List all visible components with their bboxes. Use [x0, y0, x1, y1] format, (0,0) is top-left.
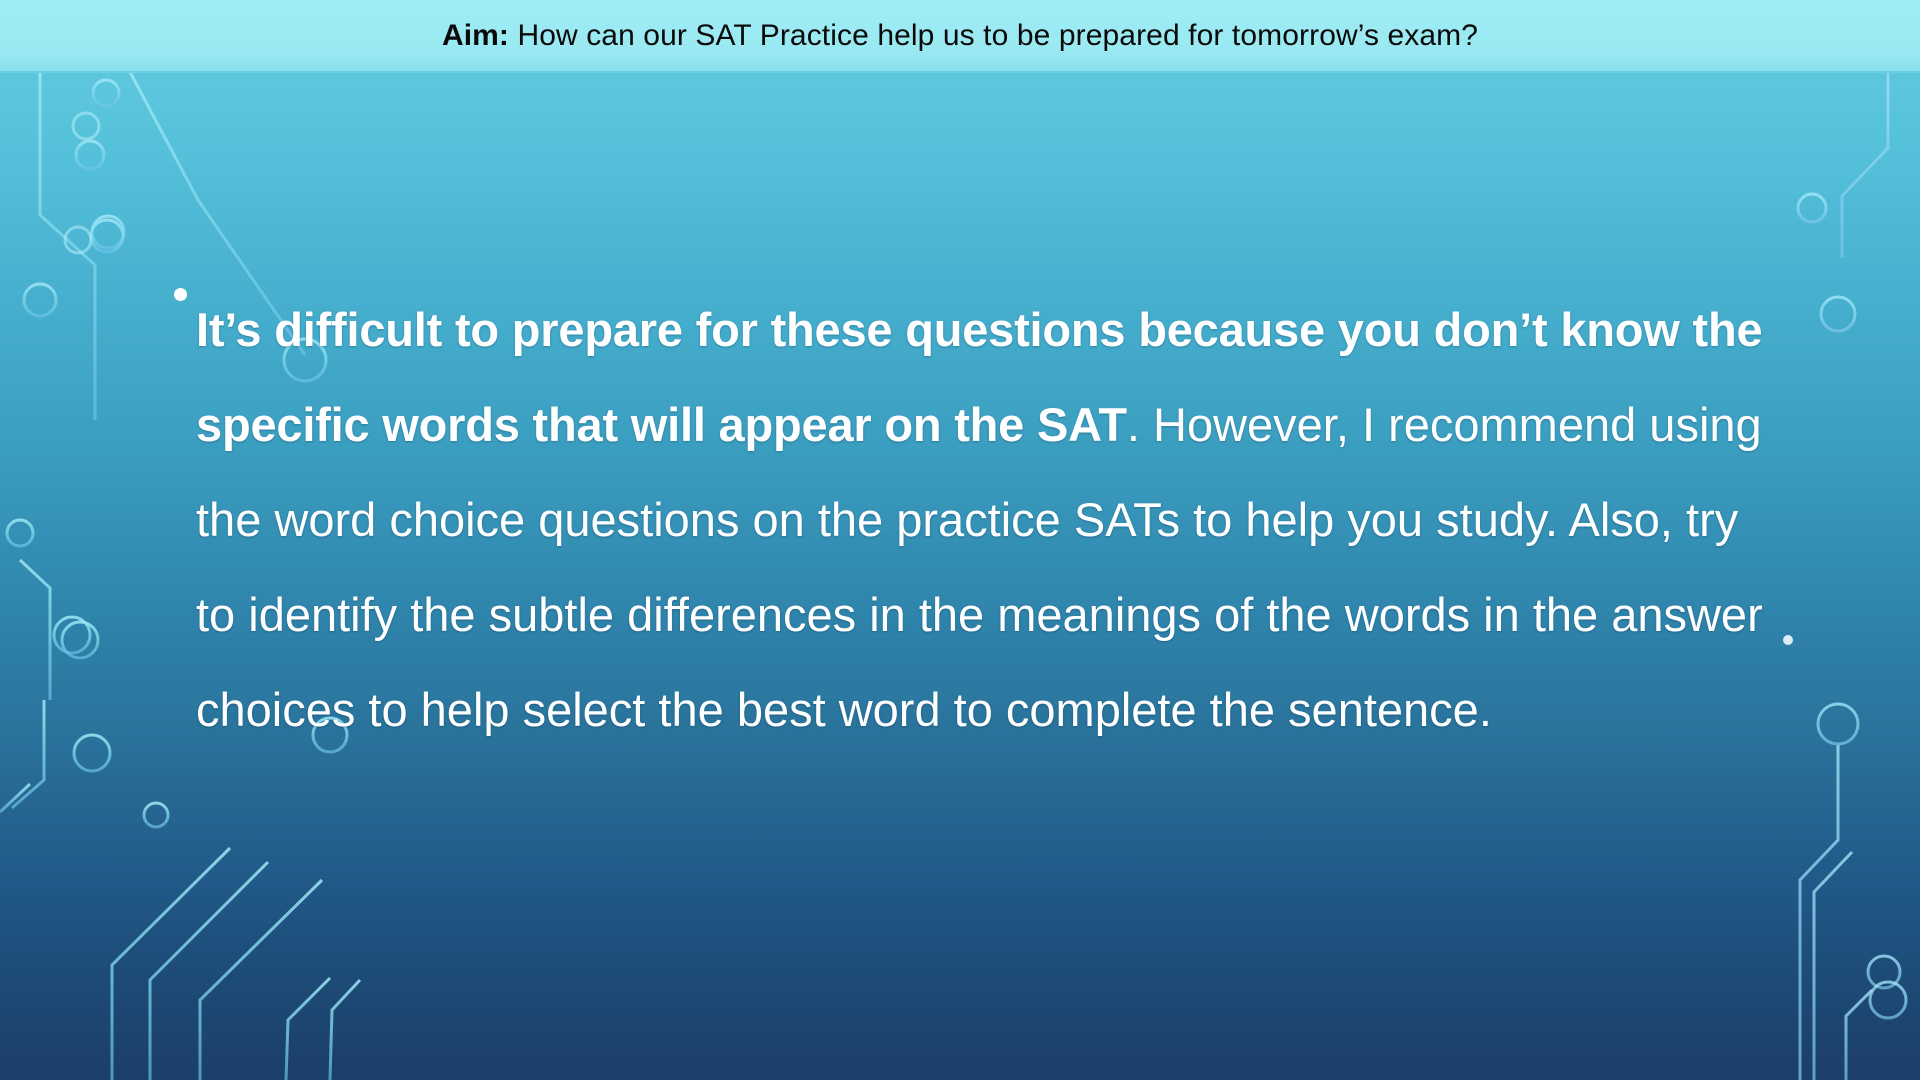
body-bullet-paragraph: It’s difficult to prepare for these ques… [196, 282, 1776, 757]
presentation-slide: Aim: How can our SAT Practice help us to… [0, 0, 1920, 1080]
bullet-dot-icon [174, 288, 187, 301]
slide-header-band: Aim: How can our SAT Practice help us to… [0, 0, 1920, 73]
slide-aim-title: Aim: How can our SAT Practice help us to… [442, 21, 1478, 51]
aim-label: Aim: [442, 19, 509, 52]
aim-question-text: How can our SAT Practice help us to be p… [509, 19, 1478, 52]
slide-body-block: It’s difficult to prepare for these ques… [196, 282, 1776, 757]
